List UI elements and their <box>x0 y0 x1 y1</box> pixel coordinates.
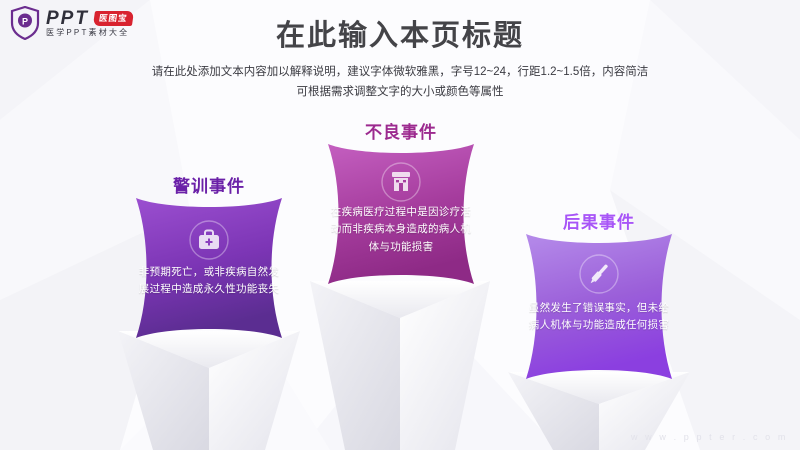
card-title-warning-event: 警训事件 <box>118 172 300 197</box>
subtitle-line-2: 可根据需求调整文字的大小或颜色等属性 <box>0 82 800 102</box>
logo-brand-text: PPT <box>46 9 89 28</box>
logo-tagline: 医学PPT素材大全 <box>46 29 132 37</box>
brand-logo: P PPT 医图宝 医学PPT素材大全 <box>10 6 132 40</box>
card-consequence-event[interactable]: 后果事件 虽然发生了错误事实，但未给病人机体与功能造成任何损害 <box>508 208 690 378</box>
card-body-consequence-event: 虽然发生了错误事实，但未给病人机体与功能造成任何损害 <box>508 300 690 335</box>
card-title-adverse-event: 不良事件 <box>310 118 492 143</box>
shield-letter: P <box>22 16 28 26</box>
card-adverse-event[interactable]: 不良事件 在疾病医疗过程中是因诊疗活动而非疾病本身造成的病人机体与功能损害 <box>310 118 492 284</box>
card-title-consequence-event: 后果事件 <box>508 208 690 233</box>
dropper-icon <box>575 250 623 303</box>
card-body-warning-event: 非预期死亡，或非疾病自然发展过程中造成永久性功能丧失 <box>118 264 300 299</box>
page-subtitle: 请在此处添加文本内容加以解释说明，建议字体微软雅黑，字号12~24，行距1.2~… <box>0 62 800 102</box>
site-watermark: w w w . p p t e r . c o m <box>631 432 788 442</box>
card-warning-event[interactable]: 警训事件 非预期死亡，或非疾病自然发展过程中造成永久性功能丧失 <box>118 172 300 338</box>
pedestal-left <box>118 331 300 450</box>
subtitle-line-1: 请在此处添加文本内容加以解释说明，建议字体微软雅黑，字号12~24，行距1.2~… <box>0 62 800 82</box>
medical-briefcase-icon <box>185 216 233 269</box>
shield-icon: P <box>10 6 40 40</box>
logo-badge: 医图宝 <box>93 11 134 26</box>
card-body-adverse-event: 在疾病医疗过程中是因诊疗活动而非疾病本身造成的病人机体与功能损害 <box>310 204 492 256</box>
pedestal-middle <box>310 281 490 450</box>
